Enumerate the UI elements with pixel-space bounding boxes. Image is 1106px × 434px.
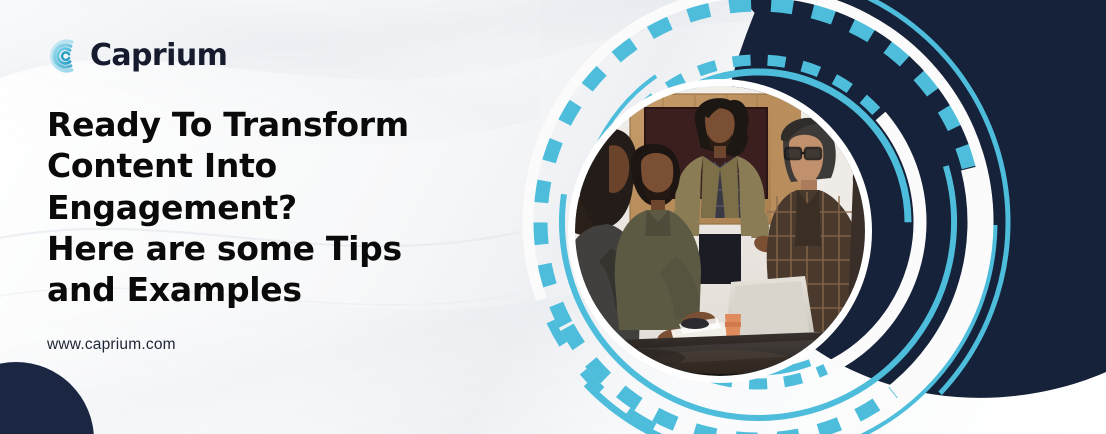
photo-illustration (575, 86, 865, 376)
team-meeting-photo (575, 86, 865, 376)
page-title: Ready To Transform Content Into Engageme… (47, 104, 517, 310)
concentric-arcs-icon (47, 38, 83, 74)
brand-logo[interactable]: Caprium (47, 34, 517, 78)
website-url[interactable]: www.caprium.com (47, 336, 517, 354)
brand-name: Caprium (90, 41, 227, 71)
promo-banner: Caprium Ready To Transform Content Into … (0, 0, 1106, 434)
text-column: Caprium Ready To Transform Content Into … (47, 34, 517, 354)
